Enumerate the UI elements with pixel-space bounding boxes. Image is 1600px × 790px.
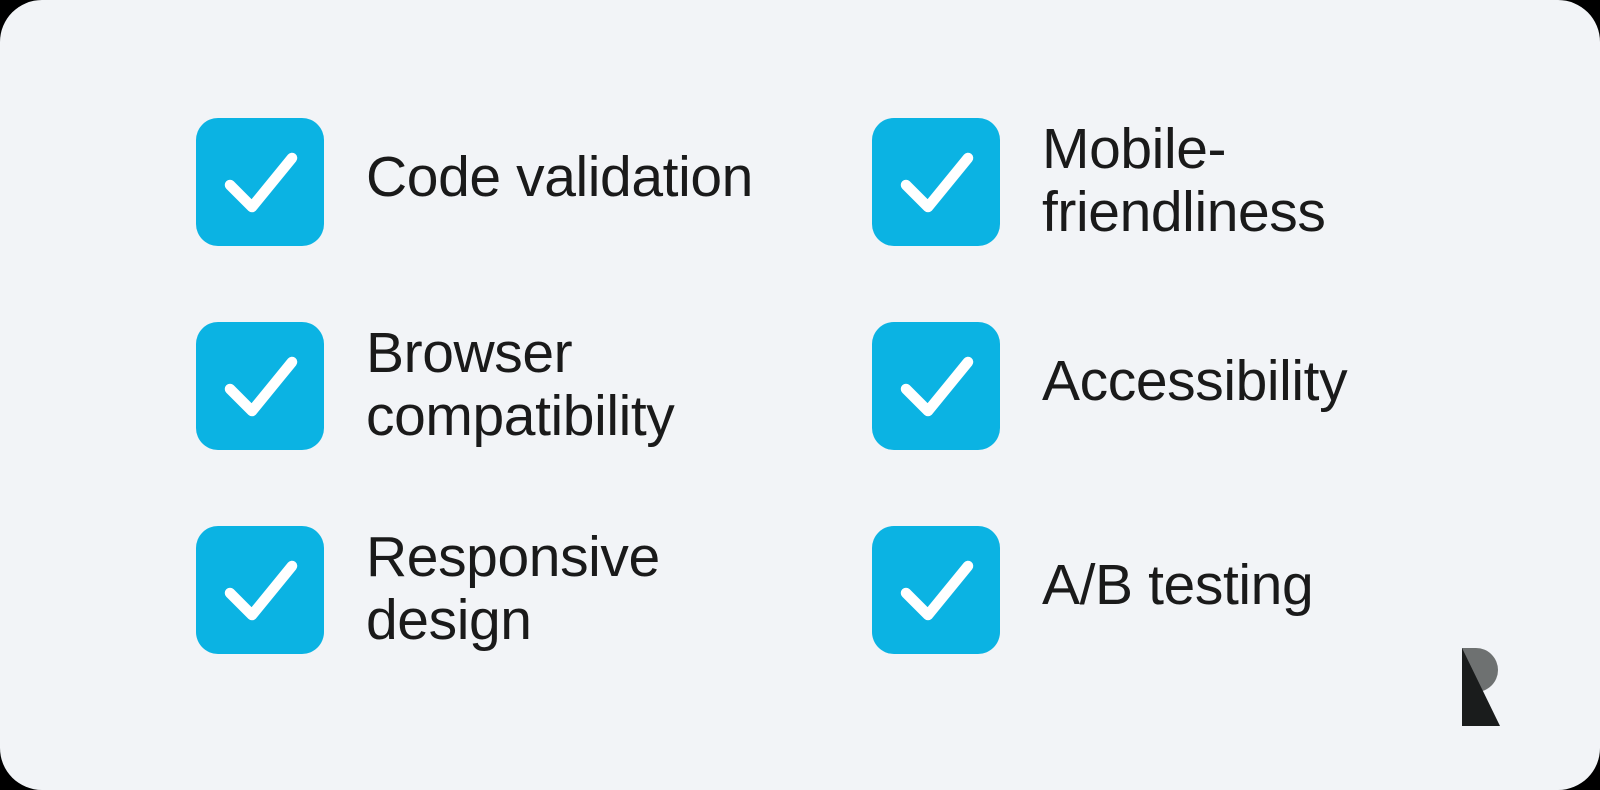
checklist-card: Code validation Browser compatibility Re… [0,0,1600,790]
brand-logo-r-icon [1448,648,1502,726]
checkbox-checked-icon[interactable] [196,322,324,450]
checkbox-checked-icon[interactable] [872,526,1000,654]
checkbox-checked-icon[interactable] [872,322,1000,450]
checklist-grid: Code validation Browser compatibility Re… [0,0,1600,790]
checkbox-checked-icon[interactable] [196,118,324,246]
checkbox-checked-icon[interactable] [872,118,1000,246]
checklist-item-label: Mobile- friendliness [1042,118,1326,244]
checklist-item-label: Browser compatibility [366,322,674,448]
checklist-item-code-validation[interactable]: Code validation [196,118,753,246]
checklist-item-label: Code validation [366,118,753,209]
checklist-item-responsive-design[interactable]: Responsive design [196,526,660,654]
checklist-item-label: Accessibility [1042,322,1347,413]
checklist-item-label: A/B testing [1042,526,1313,617]
checklist-item-label: Responsive design [366,526,660,652]
checkbox-checked-icon[interactable] [196,526,324,654]
checklist-item-browser-compatibility[interactable]: Browser compatibility [196,322,674,450]
checklist-item-mobile-friendliness[interactable]: Mobile- friendliness [872,118,1326,246]
checklist-item-ab-testing[interactable]: A/B testing [872,526,1313,654]
checklist-item-accessibility[interactable]: Accessibility [872,322,1347,450]
